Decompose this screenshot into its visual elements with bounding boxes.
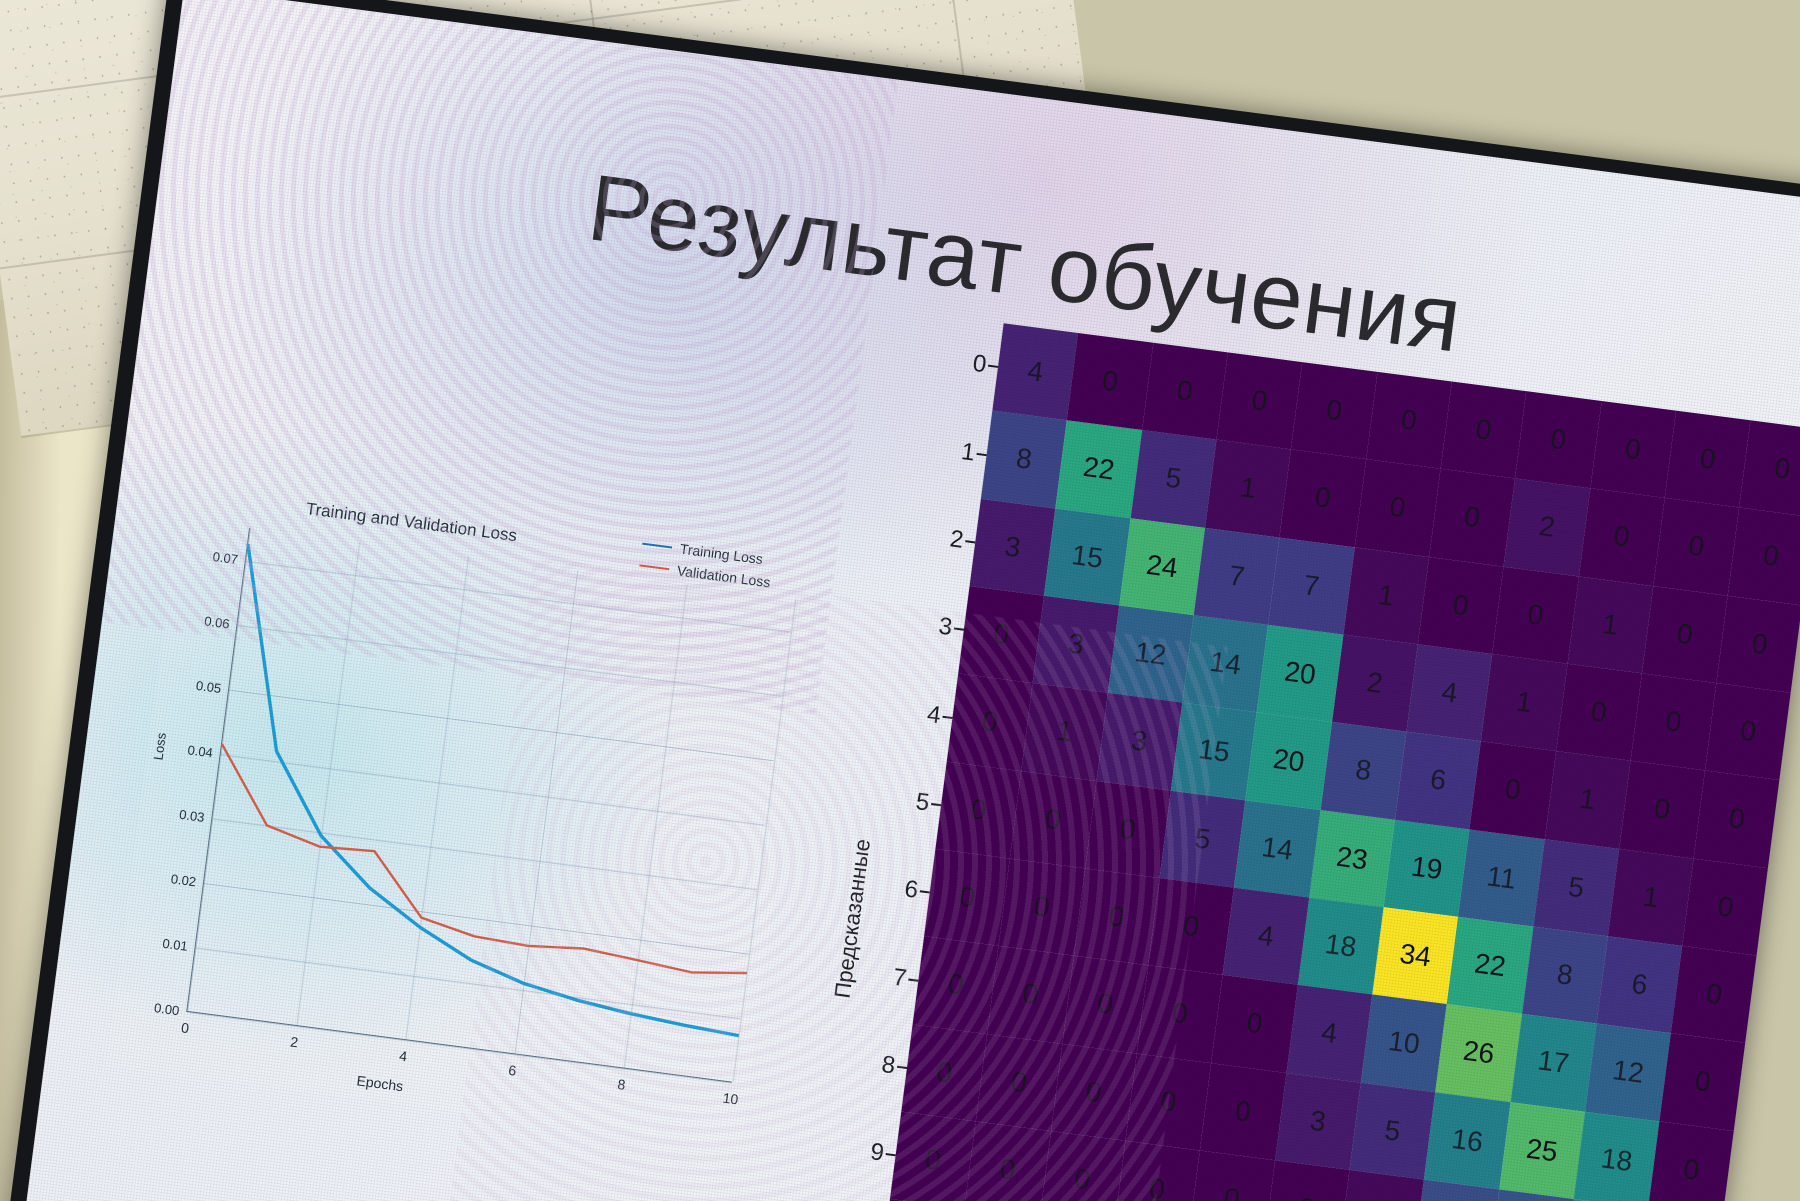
confusion-matrix-tick-mark bbox=[954, 628, 964, 631]
confusion-matrix-row-label: 5 bbox=[914, 788, 931, 817]
confusion-matrix-cell: 0 bbox=[1073, 868, 1159, 965]
confusion-matrix-cell: 0 bbox=[1739, 420, 1800, 517]
confusion-matrix-cell: 0 bbox=[1556, 664, 1642, 761]
confusion-matrix-cell: 0 bbox=[901, 1024, 987, 1121]
x-tick-label: 2 bbox=[289, 1033, 299, 1050]
confusion-matrix-cell: 20 bbox=[1257, 625, 1343, 722]
confusion-matrix-cell: 0 bbox=[965, 1121, 1051, 1201]
line-chart-series-svg bbox=[187, 528, 795, 1083]
line-chart-ylabel: Loss bbox=[150, 732, 168, 761]
y-tick-label: 0.05 bbox=[195, 678, 222, 696]
y-tick-label: 0.01 bbox=[162, 936, 189, 954]
confusion-matrix-cell: 7 bbox=[1194, 528, 1280, 625]
confusion-matrix-cell: 0 bbox=[1723, 1131, 1800, 1201]
y-tick-label: 0.07 bbox=[212, 548, 239, 566]
confusion-matrix-cell: 5 bbox=[1160, 790, 1246, 887]
confusion-matrix-cell: 0 bbox=[1085, 781, 1171, 878]
confusion-matrix-cell: 0 bbox=[1660, 1034, 1746, 1131]
confusion-matrix-cell: 0 bbox=[1212, 975, 1298, 1072]
presentation-slide: Результат обучения Training and Validati… bbox=[20, 0, 1800, 1201]
confusion-matrix-cell: 0 bbox=[1114, 1141, 1200, 1201]
confusion-matrix-cell: 0 bbox=[1579, 489, 1665, 586]
confusion-matrix-cell: 0 bbox=[976, 1034, 1062, 1131]
confusion-matrix-cell: 0 bbox=[1441, 382, 1527, 479]
y-tick-label: 0.04 bbox=[187, 742, 214, 760]
confusion-matrix-cell: 1 bbox=[1608, 849, 1694, 946]
confusion-matrix-cell: 7 bbox=[1268, 537, 1354, 634]
confusion-matrix-cell: 3 bbox=[1033, 596, 1119, 693]
confusion-matrix-cell: 0 bbox=[1429, 469, 1515, 566]
y-tick-label: 0.03 bbox=[178, 807, 205, 825]
confusion-matrix-cell: 0 bbox=[1665, 411, 1751, 508]
confusion-matrix-row-label: 2 bbox=[948, 525, 965, 554]
confusion-matrix-cell: 26 bbox=[1436, 1004, 1522, 1101]
confusion-matrix-cell: 0 bbox=[1067, 333, 1153, 430]
confusion-matrix-cell: 0 bbox=[1493, 566, 1579, 663]
confusion-matrix-cell: 0 bbox=[958, 586, 1044, 683]
confusion-matrix-row-label: 6 bbox=[903, 876, 920, 905]
confusion-matrix-tick-mark bbox=[942, 715, 952, 718]
confusion-matrix-cell: 0 bbox=[1734, 1043, 1800, 1140]
confusion-matrix-cell: 2 bbox=[1504, 479, 1590, 576]
confusion-matrix-cell: 0 bbox=[1642, 586, 1728, 683]
confusion-matrix-cell: 0 bbox=[1418, 557, 1504, 654]
y-tick-label: 0.00 bbox=[153, 1000, 180, 1018]
x-tick-label: 8 bbox=[617, 1076, 627, 1093]
confusion-matrix-cell: 0 bbox=[1648, 1121, 1734, 1201]
confusion-matrix-cell: 16 bbox=[1424, 1092, 1510, 1189]
confusion-matrix-cell: 12 bbox=[1585, 1024, 1671, 1121]
confusion-matrix-cell: 0 bbox=[1653, 498, 1739, 595]
presentation-room-photo: Результат обучения Training and Validati… bbox=[0, 0, 1800, 1201]
confusion-matrix-cell: 4 bbox=[1406, 644, 1492, 741]
confusion-matrix-cell: 14 bbox=[1234, 800, 1320, 897]
confusion-matrix-cell: 0 bbox=[1705, 683, 1791, 780]
confusion-matrix-row-label: 4 bbox=[926, 700, 943, 729]
confusion-matrix-cell: 34 bbox=[1372, 907, 1458, 1004]
confusion-matrix-cell: 0 bbox=[1619, 761, 1705, 858]
x-tick-label: 4 bbox=[398, 1048, 408, 1065]
confusion-matrix: Предсказанные 01234567891011 40000000000… bbox=[772, 311, 1800, 1201]
confusion-matrix-cell: 5 bbox=[1533, 839, 1619, 936]
confusion-matrix-cell: 6 bbox=[1596, 936, 1682, 1033]
confusion-matrix-row-label: 9 bbox=[869, 1138, 886, 1167]
confusion-matrix-tick-mark bbox=[965, 540, 975, 543]
legend-swatch-validation bbox=[639, 564, 669, 570]
confusion-matrix-cell: 0 bbox=[999, 859, 1085, 956]
confusion-matrix-cell: 6 bbox=[1395, 732, 1481, 829]
confusion-matrix-cell: 0 bbox=[1010, 771, 1096, 868]
confusion-matrix-cell: 24 bbox=[1119, 518, 1205, 615]
confusion-matrix-row-label: 3 bbox=[937, 613, 954, 642]
confusion-matrix-cell: 4 bbox=[992, 323, 1078, 420]
confusion-matrix-cell: 0 bbox=[1137, 966, 1223, 1063]
confusion-matrix-cell: 0 bbox=[1148, 878, 1234, 975]
confusion-matrix-cell: 0 bbox=[1291, 362, 1377, 459]
confusion-matrix-cell: 1 bbox=[1544, 751, 1630, 848]
confusion-matrix-row-label: 1 bbox=[960, 438, 977, 467]
confusion-matrix-cell: 1 bbox=[1481, 654, 1567, 751]
confusion-matrix-row-label: 8 bbox=[880, 1051, 897, 1080]
confusion-matrix-cell: 20 bbox=[1246, 712, 1332, 809]
led-video-wall: Результат обучения Training and Validati… bbox=[4, 0, 1800, 1201]
confusion-matrix-cell: 14 bbox=[1182, 615, 1268, 712]
confusion-matrix-cell: 8 bbox=[1320, 722, 1406, 819]
confusion-matrix-cell: 1 bbox=[1567, 576, 1653, 673]
confusion-matrix-cell: 0 bbox=[1694, 771, 1780, 868]
y-tick-label: 0.06 bbox=[203, 613, 230, 631]
confusion-matrix-cell: 5 bbox=[1130, 430, 1216, 527]
confusion-matrix-cell: 0 bbox=[1728, 508, 1800, 605]
confusion-matrix-cell: 1 bbox=[1343, 547, 1429, 644]
confusion-matrix-cell: 8 bbox=[1522, 927, 1608, 1024]
confusion-matrix-cell: 0 bbox=[935, 761, 1021, 858]
confusion-matrix-cell: 0 bbox=[1200, 1063, 1286, 1160]
confusion-matrix-cell: 0 bbox=[1142, 343, 1228, 440]
confusion-matrix-row-label: 7 bbox=[891, 963, 908, 992]
confusion-matrix-cell: 0 bbox=[1366, 372, 1452, 469]
line-chart-plot-area: 0.000.010.020.030.040.050.060.070246810 bbox=[186, 528, 794, 1083]
confusion-matrix-cell: 0 bbox=[1470, 742, 1556, 839]
confusion-matrix-cell: 0 bbox=[1051, 1043, 1137, 1140]
confusion-matrix-cell: 5 bbox=[1350, 1082, 1436, 1179]
confusion-matrix-tick-mark bbox=[897, 1066, 907, 1069]
confusion-matrix-cell: 0 bbox=[987, 946, 1073, 1043]
confusion-matrix-cell: 0 bbox=[947, 674, 1033, 771]
x-tick-label: 6 bbox=[508, 1062, 518, 1079]
confusion-matrix-tick-mark bbox=[886, 1153, 896, 1156]
confusion-matrix-cell: 2 bbox=[1332, 635, 1418, 732]
confusion-matrix-cell: 0 bbox=[1125, 1053, 1211, 1150]
confusion-matrix-cell: 0 bbox=[1039, 1131, 1125, 1201]
confusion-matrix-cell: 0 bbox=[1717, 596, 1800, 693]
confusion-matrix-cell: 4 bbox=[1223, 888, 1309, 985]
training-validation-loss-chart: Training and Validation Loss Training Lo… bbox=[107, 461, 820, 1148]
x-tick-label: 0 bbox=[180, 1019, 190, 1036]
confusion-matrix-tick-mark bbox=[908, 978, 918, 981]
confusion-matrix-cell: 22 bbox=[1056, 421, 1142, 518]
confusion-matrix-cell: 23 bbox=[1309, 810, 1395, 907]
confusion-matrix-cell: 3 bbox=[1096, 693, 1182, 790]
confusion-matrix-cell: 0 bbox=[924, 849, 1010, 946]
confusion-matrix-cell: 0 bbox=[1354, 459, 1440, 556]
confusion-matrix-cell: 0 bbox=[1189, 1150, 1275, 1201]
legend-swatch-training bbox=[642, 543, 672, 549]
confusion-matrix-cell: 18 bbox=[1574, 1111, 1660, 1201]
confusion-matrix-cell: 4 bbox=[1286, 985, 1372, 1082]
confusion-matrix-grid: 4000000000008225100020000315247710010000… bbox=[867, 323, 1800, 1201]
confusion-matrix-cell: 0 bbox=[1280, 450, 1366, 547]
confusion-matrix-cell: 15 bbox=[1171, 703, 1257, 800]
confusion-matrix-cell: 1 bbox=[1205, 440, 1291, 537]
confusion-matrix-cell: 0 bbox=[913, 936, 999, 1033]
confusion-matrix-tick-mark bbox=[920, 890, 930, 893]
confusion-matrix-cell: 0 bbox=[1631, 673, 1717, 770]
confusion-matrix-cell: 1 bbox=[1022, 683, 1108, 780]
confusion-matrix-cell: 17 bbox=[1510, 1014, 1596, 1111]
confusion-matrix-cell: 3 bbox=[970, 498, 1056, 595]
line-series-validation bbox=[201, 744, 768, 979]
confusion-matrix-cell: 0 bbox=[890, 1112, 976, 1201]
confusion-matrix-cell: 0 bbox=[1671, 946, 1757, 1043]
confusion-matrix-cell: 0 bbox=[1682, 858, 1768, 955]
confusion-matrix-cell: 0 bbox=[1515, 391, 1601, 488]
x-tick-label: 10 bbox=[722, 1090, 740, 1108]
confusion-matrix-cell: 12 bbox=[1108, 605, 1194, 702]
confusion-matrix-row-label: 0 bbox=[971, 350, 988, 379]
confusion-matrix-cell: 0 bbox=[1590, 401, 1676, 498]
confusion-matrix-cell: 18 bbox=[1298, 897, 1384, 994]
confusion-matrix-cell: 8 bbox=[981, 411, 1067, 508]
confusion-matrix-cell: 15 bbox=[1044, 508, 1130, 605]
confusion-matrix-tick-mark bbox=[931, 803, 941, 806]
line-chart-xlabel: Epochs bbox=[356, 1072, 404, 1094]
confusion-matrix-cell: 25 bbox=[1499, 1102, 1585, 1199]
confusion-matrix-cell: 10 bbox=[1361, 995, 1447, 1092]
confusion-matrix-cell: 3 bbox=[1275, 1073, 1361, 1170]
confusion-matrix-tick-mark bbox=[988, 365, 998, 368]
confusion-matrix-cell: 0 bbox=[1062, 956, 1148, 1053]
y-tick-label: 0.02 bbox=[170, 871, 197, 889]
confusion-matrix-cell: 19 bbox=[1384, 819, 1470, 916]
confusion-matrix-tick-mark bbox=[977, 452, 987, 455]
confusion-matrix-cell: 0 bbox=[1216, 352, 1302, 449]
confusion-matrix-cell: 11 bbox=[1458, 829, 1544, 926]
line-series-training bbox=[193, 544, 793, 1036]
confusion-matrix-cell: 22 bbox=[1447, 917, 1533, 1014]
